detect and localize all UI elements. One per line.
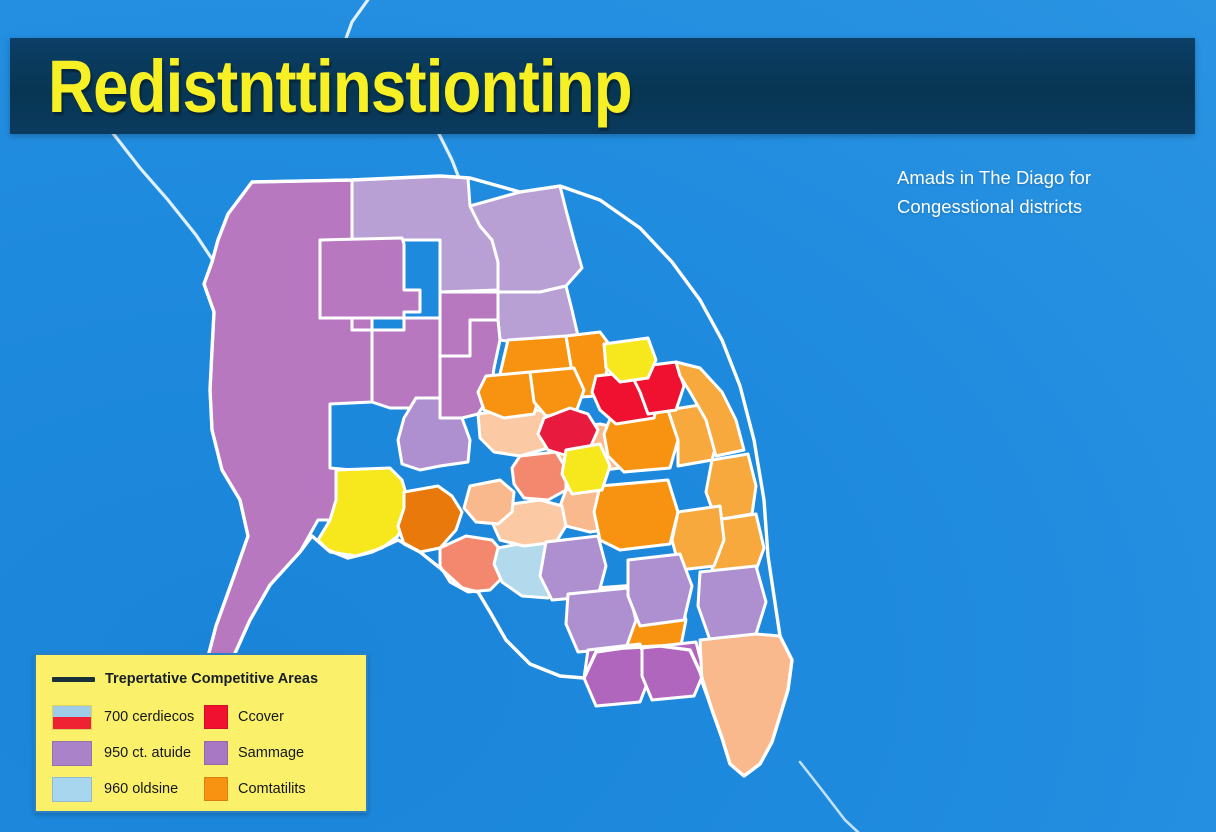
legend-item-960-oldsine[interactable]: 960 oldsine: [52, 777, 204, 802]
district-se-peach-peninsula: [700, 634, 792, 776]
legend-label: Comtatilits: [238, 781, 306, 797]
map-screenshot-root: Redistnttinstiontinp Amads in The Diago …: [0, 0, 1216, 832]
legend-label: 960 oldsine: [104, 781, 178, 797]
district-s-purple-2: [566, 588, 636, 652]
legend-label: Ccover: [238, 709, 284, 725]
legend-swatch-icon: [204, 705, 228, 729]
page-title: Redistnttinstiontinp: [48, 50, 632, 124]
district-s-magenta-2: [642, 642, 704, 700]
district-peach-5: [464, 480, 514, 524]
legend-row: 950 ct. atuide Sammage: [52, 735, 352, 771]
district-orange-big: [594, 480, 678, 550]
district-s-purple-4: [698, 566, 766, 640]
legend-item-sammage[interactable]: Sammage: [204, 741, 304, 765]
legend-entries: 700 cerdiecos Ccover 950 ct. atuide Samm…: [52, 699, 352, 807]
legend-title-row: Trepertative Competitive Areas: [52, 671, 318, 687]
district-yellow-c2: [562, 444, 610, 494]
map-legend[interactable]: Trepertative Competitive Areas 700 cerdi…: [34, 653, 368, 813]
legend-swatch-split-icon: [52, 705, 92, 730]
legend-swatch-icon: [52, 777, 92, 802]
district-yellow-c1: [604, 338, 656, 382]
legend-label: Sammage: [238, 745, 304, 761]
map-subtitle: Amads in The Diago for Congesstional dis…: [897, 163, 1197, 221]
legend-item-700-cerdiecos[interactable]: 700 cerdiecos: [52, 705, 204, 730]
legend-line-marker-icon: [52, 677, 95, 682]
subtitle-line-1: Amads in The Diago for: [897, 163, 1197, 192]
district-s-purple-3: [628, 554, 692, 626]
legend-label: 950 ct. atuide: [104, 745, 191, 761]
legend-swatch-icon: [204, 777, 228, 801]
legend-label: 700 cerdiecos: [104, 709, 194, 725]
legend-item-950-ct-atuide[interactable]: 950 ct. atuide: [52, 741, 204, 766]
legend-row: 960 oldsine Comtatilits: [52, 771, 352, 807]
legend-title: Trepertative Competitive Areas: [105, 671, 318, 687]
legend-item-comtatilits[interactable]: Comtatilits: [204, 777, 306, 801]
legend-swatch-icon: [204, 741, 228, 765]
legend-item-ccover[interactable]: Ccover: [204, 705, 284, 729]
legend-row: 700 cerdiecos Ccover: [52, 699, 352, 735]
district-mid-purple-1: [320, 238, 420, 318]
district-salmon-mid: [512, 452, 566, 500]
subtitle-line-2: Congesstional districts: [897, 192, 1197, 221]
legend-swatch-icon: [52, 741, 92, 766]
